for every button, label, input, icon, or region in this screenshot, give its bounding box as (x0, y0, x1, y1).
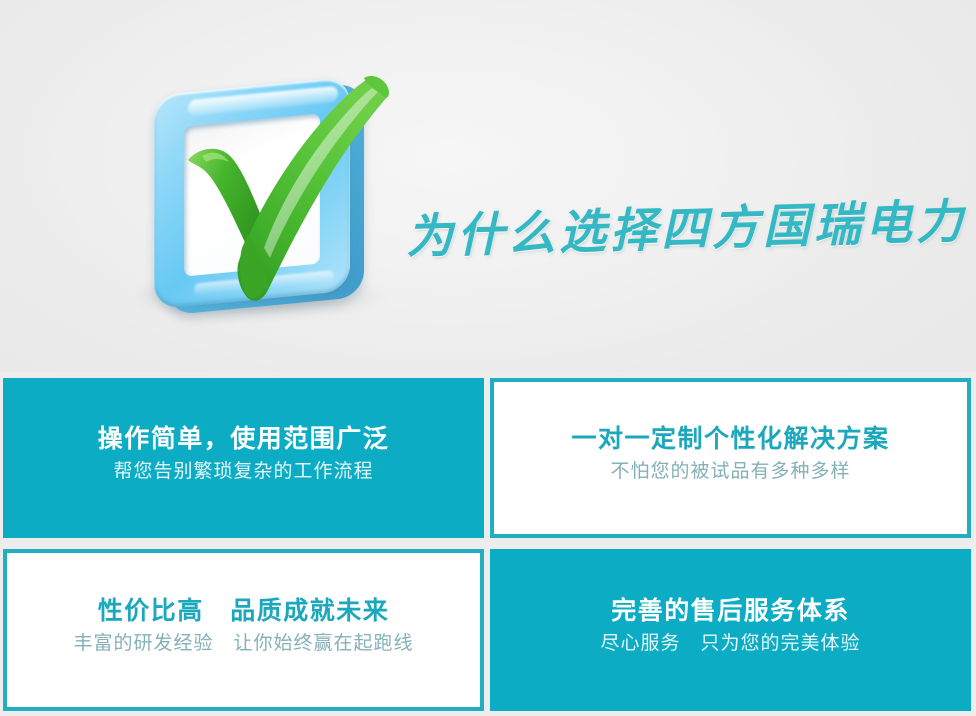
feature-card-1-subtitle: 帮您告别繁琐复杂的工作流程 (113, 459, 373, 485)
green-checkmark-icon (152, 52, 418, 320)
feature-card-4[interactable]: 完善的售后服务体系 尽心服务 只为您的完美体验 (490, 549, 971, 711)
feature-card-grid: 操作简单，使用范围广泛 帮您告别繁琐复杂的工作流程 一对一定制个性化解决方案 不… (3, 378, 971, 716)
feature-card-1[interactable]: 操作简单，使用范围广泛 帮您告别繁琐复杂的工作流程 (3, 378, 484, 538)
promo-page: 为什么选择四方国瑞电力 操作简单，使用范围广泛 帮您告别繁琐复杂的工作流程 一对… (0, 0, 976, 716)
feature-card-2-title: 一对一定制个性化解决方案 (571, 424, 889, 455)
feature-card-3-subtitle: 丰富的研发经验 让你始终赢在起跑线 (73, 631, 413, 657)
hero-section: 为什么选择四方国瑞电力 (0, 0, 976, 372)
feature-card-4-title: 完善的售后服务体系 (611, 596, 850, 627)
page-title: 为什么选择四方国瑞电力 (405, 196, 966, 263)
feature-card-2-subtitle: 不怕您的被试品有多种多样 (610, 459, 850, 485)
feature-card-2[interactable]: 一对一定制个性化解决方案 不怕您的被试品有多种多样 (490, 378, 971, 538)
feature-card-3-title: 性价比高 品质成就未来 (98, 596, 390, 627)
feature-card-4-subtitle: 尽心服务 只为您的完美体验 (600, 631, 860, 657)
checkbox-check-logo (128, 52, 418, 322)
feature-card-3[interactable]: 性价比高 品质成就未来 丰富的研发经验 让你始终赢在起跑线 (3, 549, 484, 711)
feature-card-1-title: 操作简单，使用范围广泛 (98, 424, 390, 455)
